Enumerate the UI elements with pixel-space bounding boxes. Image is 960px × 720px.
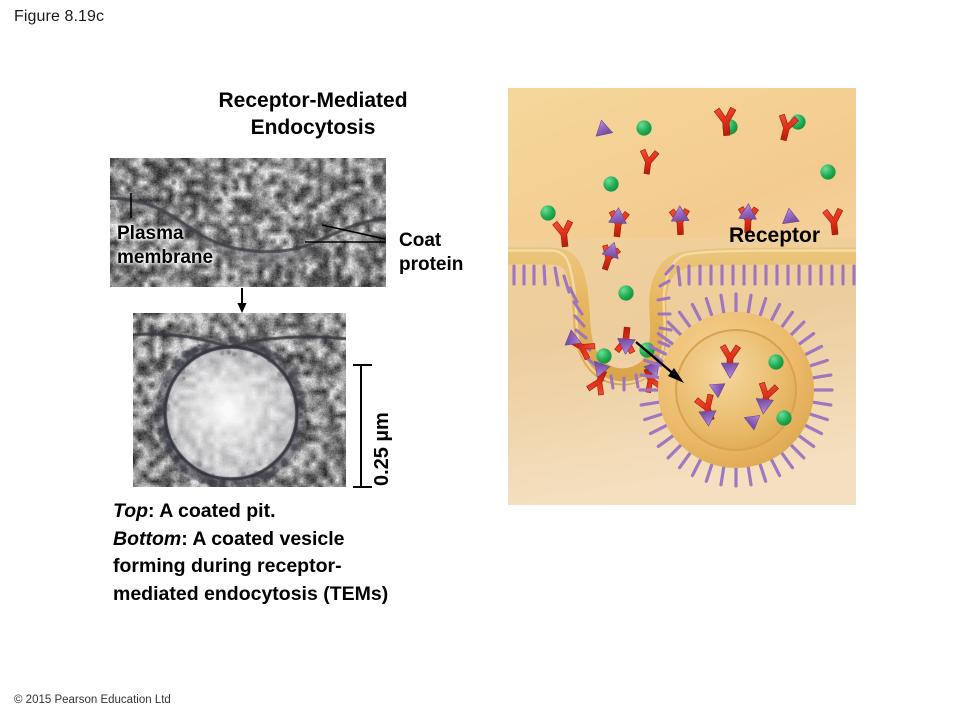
page-title: Receptor-MediatedEndocytosis	[118, 88, 508, 142]
caption-emphasis-bottom: Bottom	[113, 528, 181, 550]
caption-line-3: forming during receptor-	[113, 553, 493, 581]
receptor-mediated-endocytosis-diagram	[508, 88, 856, 505]
label-plasma-membrane: Plasmamembrane	[117, 222, 213, 269]
scale-bar-label: 0.25 µm	[371, 374, 393, 486]
caption-emphasis-top: Top	[113, 500, 148, 522]
slide-canvas: Figure 8.19c Receptor-MediatedEndocytosi…	[0, 0, 960, 720]
label-receptor: Receptor	[729, 224, 820, 248]
caption-line-1-rest: : A coated pit.	[148, 500, 275, 522]
caption-line-4: mediated endocytosis (TEMs)	[113, 581, 493, 609]
figure-caption: Top: A coated pit. Bottom: A coated vesi…	[113, 498, 493, 609]
endocytosis-illustration	[508, 88, 856, 505]
figure-number: Figure 8.19c	[14, 8, 104, 26]
label-coat-protein: Coatprotein	[399, 229, 463, 276]
copyright-notice: © 2015 Pearson Education Ltd	[14, 694, 171, 706]
caption-line-1: Top: A coated pit.	[113, 498, 493, 526]
coated-vesicle	[640, 294, 832, 486]
caption-line-2: Bottom: A coated vesicle	[113, 526, 493, 554]
downward-arrow-icon	[232, 288, 252, 314]
coated-vesicle-tem	[133, 313, 346, 487]
caption-line-2-rest: : A coated vesicle	[181, 528, 344, 550]
